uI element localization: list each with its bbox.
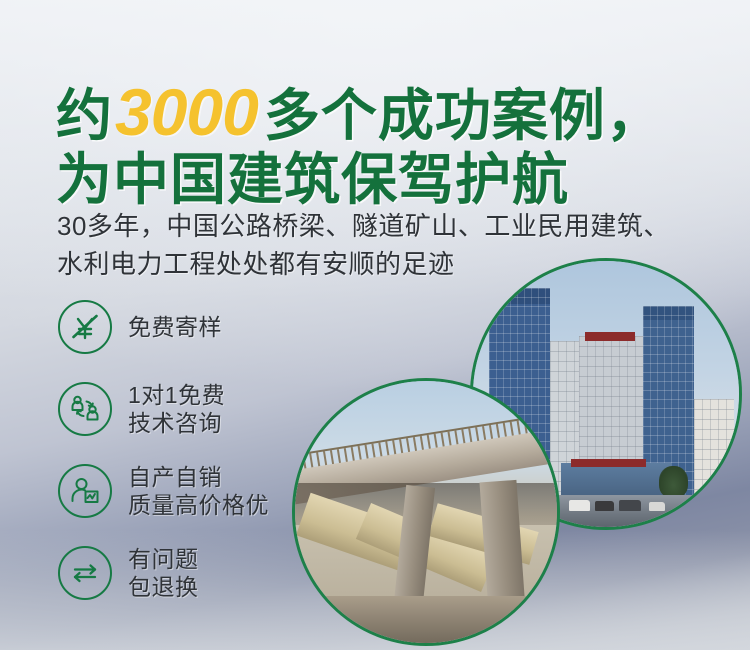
headline-prefix: 约 — [56, 84, 113, 147]
feature-item-free-sample: 免费寄样 — [58, 296, 338, 358]
feature-line-2: 技术咨询 — [128, 409, 225, 437]
subtitle-line-1: 30多年，中国公路桥梁、隧道矿山、工业民用建筑、 — [57, 208, 737, 246]
return-exchange-arrows-icon — [58, 546, 112, 600]
self-manufacture-person-chart-icon — [58, 464, 112, 518]
feature-line-2: 包退换 — [128, 573, 199, 601]
feature-item-return-exchange: 有问题 包退换 — [58, 542, 338, 604]
feature-item-self-manufacture: 自产自销 质量高价格优 — [58, 460, 338, 522]
headline-number: 3000 — [113, 75, 264, 149]
feature-line-1: 1对1免费 — [128, 382, 225, 408]
feature-label-free-sample: 免费寄样 — [128, 313, 222, 341]
feature-list: 免费寄样 1对1免费 技术咨询 — [58, 296, 338, 624]
one-on-one-consult-people-icon — [58, 382, 112, 436]
promo-banner: 约3000多个成功案例， 为中国建筑保驾护航 30多年，中国公路桥梁、隧道矿山、… — [0, 0, 750, 650]
headline-suffix: 多个成功案例， — [264, 84, 663, 147]
headline-line-2: 为中国建筑保驾护航 — [56, 151, 716, 210]
feature-label-consult: 1对1免费 技术咨询 — [128, 381, 225, 437]
free-sample-yuan-crossed-icon — [58, 300, 112, 354]
feature-item-consult: 1对1免费 技术咨询 — [58, 378, 338, 440]
feature-line-1: 自产自销 — [128, 464, 222, 490]
headline: 约3000多个成功案例， 为中国建筑保驾护航 — [56, 78, 716, 210]
feature-line-2: 质量高价格优 — [128, 491, 269, 519]
feature-label-self-manufacture: 自产自销 质量高价格优 — [128, 463, 269, 519]
feature-line-1: 有问题 — [128, 546, 199, 572]
feature-label-return-exchange: 有问题 包退换 — [128, 545, 199, 601]
headline-line-1: 约3000多个成功案例， — [56, 78, 716, 147]
feature-line-1: 免费寄样 — [128, 314, 222, 340]
